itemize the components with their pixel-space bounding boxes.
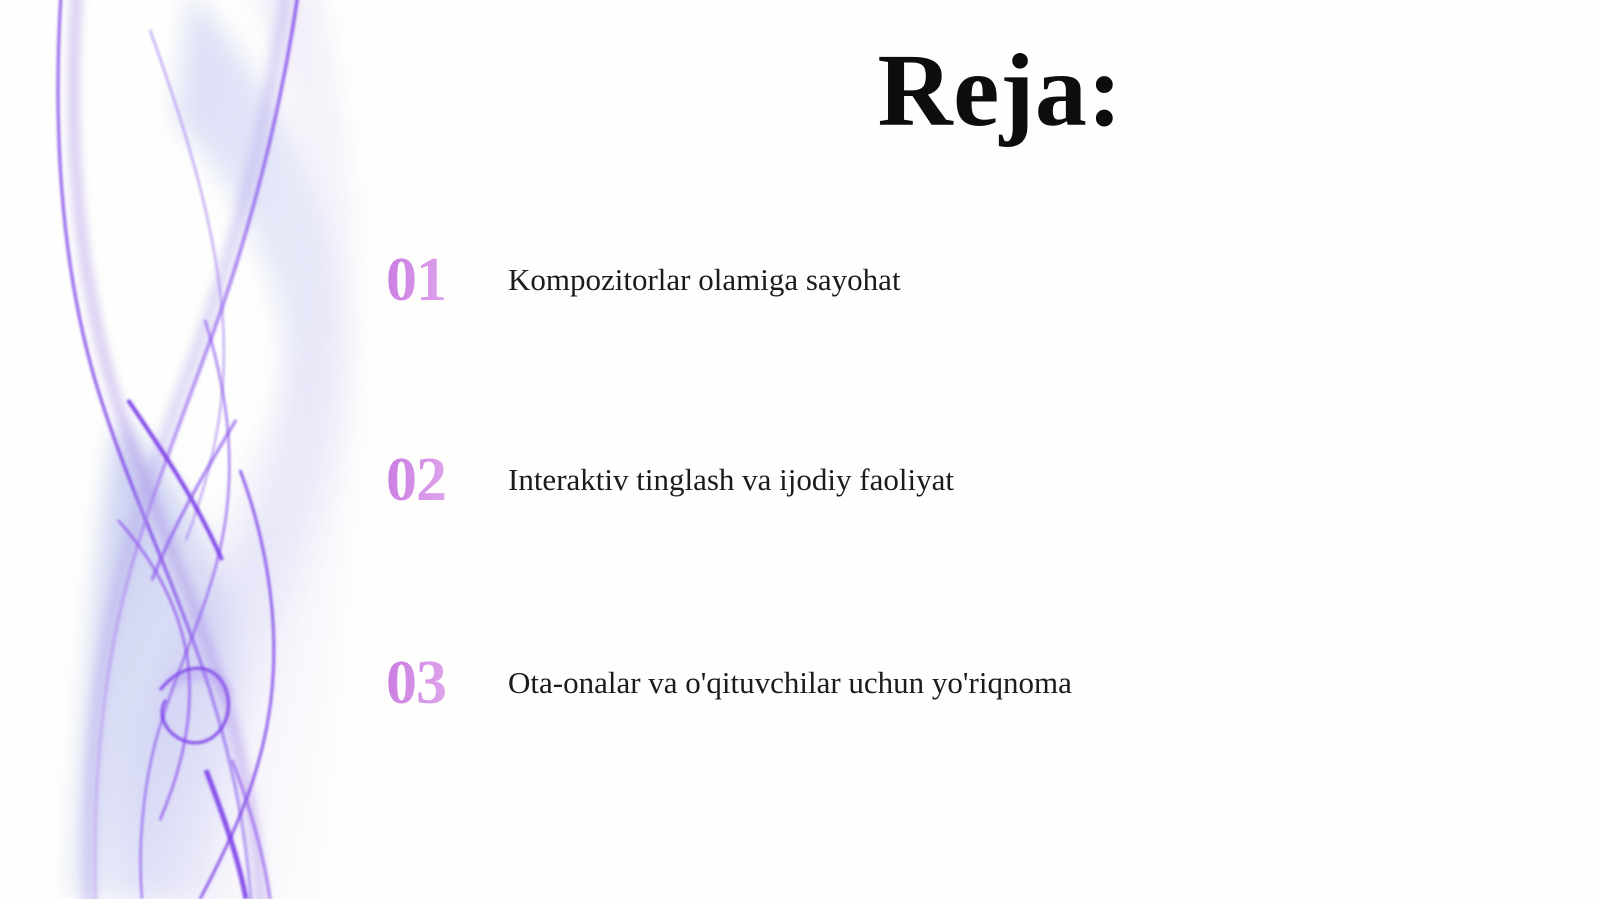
smoke-ribbon-svg [0, 0, 400, 899]
smoke-wash-mid [118, 0, 341, 899]
agenda-label-03: Ota-onalar va o'qituvchilar uchun yo'riq… [508, 664, 1566, 703]
agenda-number-03: 03 [386, 652, 508, 714]
ribbon-curl-c [200, 470, 274, 899]
ribbon-curl-d [118, 520, 190, 820]
ribbon-stroke-primary [58, 0, 252, 899]
ribbon-curl-a [141, 320, 230, 899]
ribbon-glow-secondary [89, 0, 288, 899]
agenda-item-03[interactable]: 03 Ota-onalar va o'qituvchilar uchun yo'… [386, 648, 1566, 718]
ribbon-loop-glow [170, 673, 228, 698]
ribbon-crossing-highlight-2 [152, 420, 236, 580]
agenda-number-02: 02 [386, 449, 508, 511]
agenda-item-01[interactable]: 01 Kompozitorlar olamiga sayohat [386, 245, 1566, 315]
purple-smoke-decoration [0, 0, 400, 899]
ribbon-glow-primary [73, 0, 262, 899]
agenda-label-01: Kompozitorlar olamiga sayohat [508, 261, 1566, 300]
smoke-wash-right [146, 0, 361, 899]
ribbon-tail-a [206, 770, 246, 899]
ribbon-curl-b [150, 30, 224, 540]
slide-title: Reja: [420, 34, 1580, 148]
slide-canvas: Reja: 01 Kompozitorlar olamiga sayohat 0… [0, 0, 1600, 899]
agenda-number-01: 01 [386, 249, 508, 311]
agenda-item-02[interactable]: 02 Interaktiv tinglash va ijodiy faoliya… [386, 445, 1566, 515]
agenda-label-02: Interaktiv tinglash va ijodiy faoliyat [508, 461, 1566, 500]
ribbon-crossing-highlight [128, 400, 222, 560]
ribbon-loop-knot [160, 668, 228, 743]
smoke-wash-lower-left [70, 420, 234, 899]
ribbon-tail-b [232, 760, 270, 899]
ribbon-stroke-secondary [95, 0, 300, 899]
